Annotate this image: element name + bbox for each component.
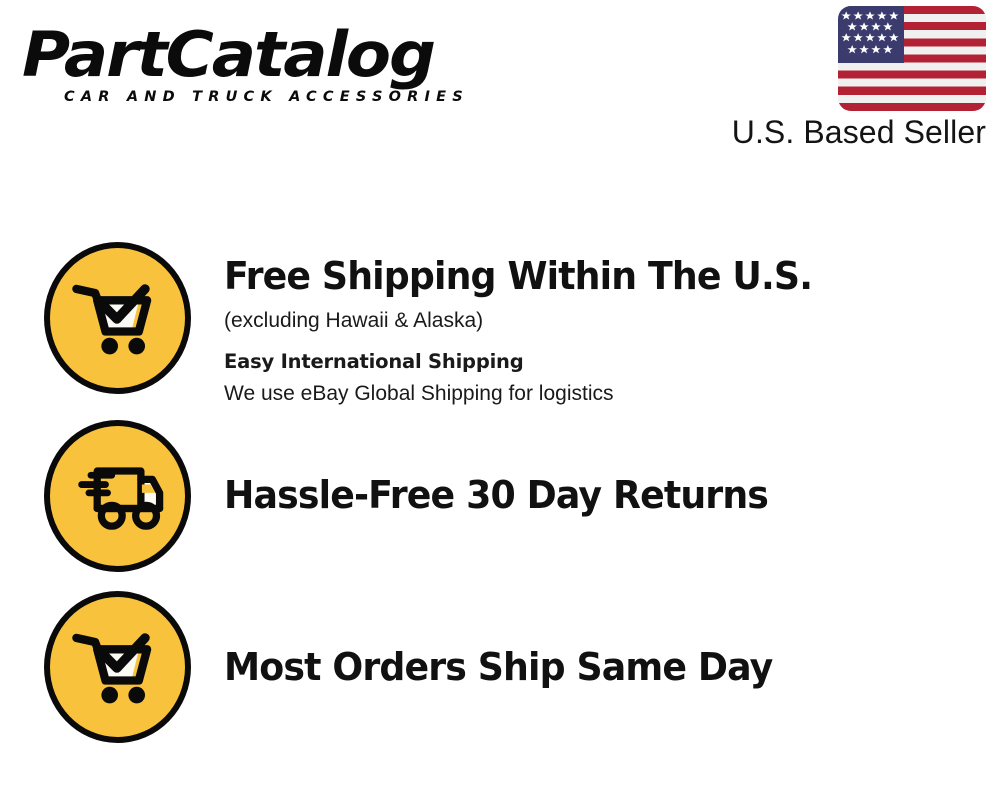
feature-headline: Hassle-Free 30 Day Returns bbox=[224, 472, 965, 519]
feature-text-block: Hassle-Free 30 Day Returns bbox=[224, 472, 1000, 519]
feature-icon-wrapper bbox=[44, 591, 191, 743]
feature-note: (excluding Hawaii & Alaska) bbox=[224, 305, 1000, 336]
brand-logo[interactable]: PartCatalog CAR AND TRUCK ACCESSORIES bbox=[22, 22, 492, 117]
feature-icon-wrapper bbox=[44, 242, 191, 394]
us-flag-icon bbox=[838, 6, 986, 111]
feature-headline: Most Orders Ship Same Day bbox=[224, 644, 965, 691]
shopping-cart-check-icon bbox=[44, 591, 191, 743]
us-based-seller-badge: U.S. Based Seller bbox=[656, 6, 986, 151]
feature-row: Hassle-Free 30 Day Returns bbox=[0, 418, 1000, 573]
feature-headline: Free Shipping Within The U.S. bbox=[224, 253, 965, 300]
us-based-seller-label: U.S. Based Seller bbox=[656, 113, 986, 151]
brand-wordmark: PartCatalog bbox=[22, 22, 520, 88]
feature-text-block: Most Orders Ship Same Day bbox=[224, 644, 1000, 691]
feature-icon-wrapper bbox=[44, 420, 191, 572]
feature-row: Free Shipping Within The U.S. (excluding… bbox=[0, 242, 1000, 402]
feature-row: Most Orders Ship Same Day bbox=[0, 588, 1000, 746]
brand-tagline: CAR AND TRUCK ACCESSORIES bbox=[64, 89, 492, 106]
page-header: PartCatalog CAR AND TRUCK ACCESSORIES bbox=[0, 0, 1000, 175]
feature-text-block: Free Shipping Within The U.S. (excluding… bbox=[224, 242, 1000, 409]
shopping-cart-check-icon bbox=[44, 242, 191, 394]
feature-subheading: Easy International Shipping bbox=[224, 346, 1000, 377]
flag-canton bbox=[838, 6, 904, 63]
delivery-truck-icon bbox=[44, 420, 191, 572]
feature-detail: We use eBay Global Shipping for logistic… bbox=[224, 378, 1000, 409]
